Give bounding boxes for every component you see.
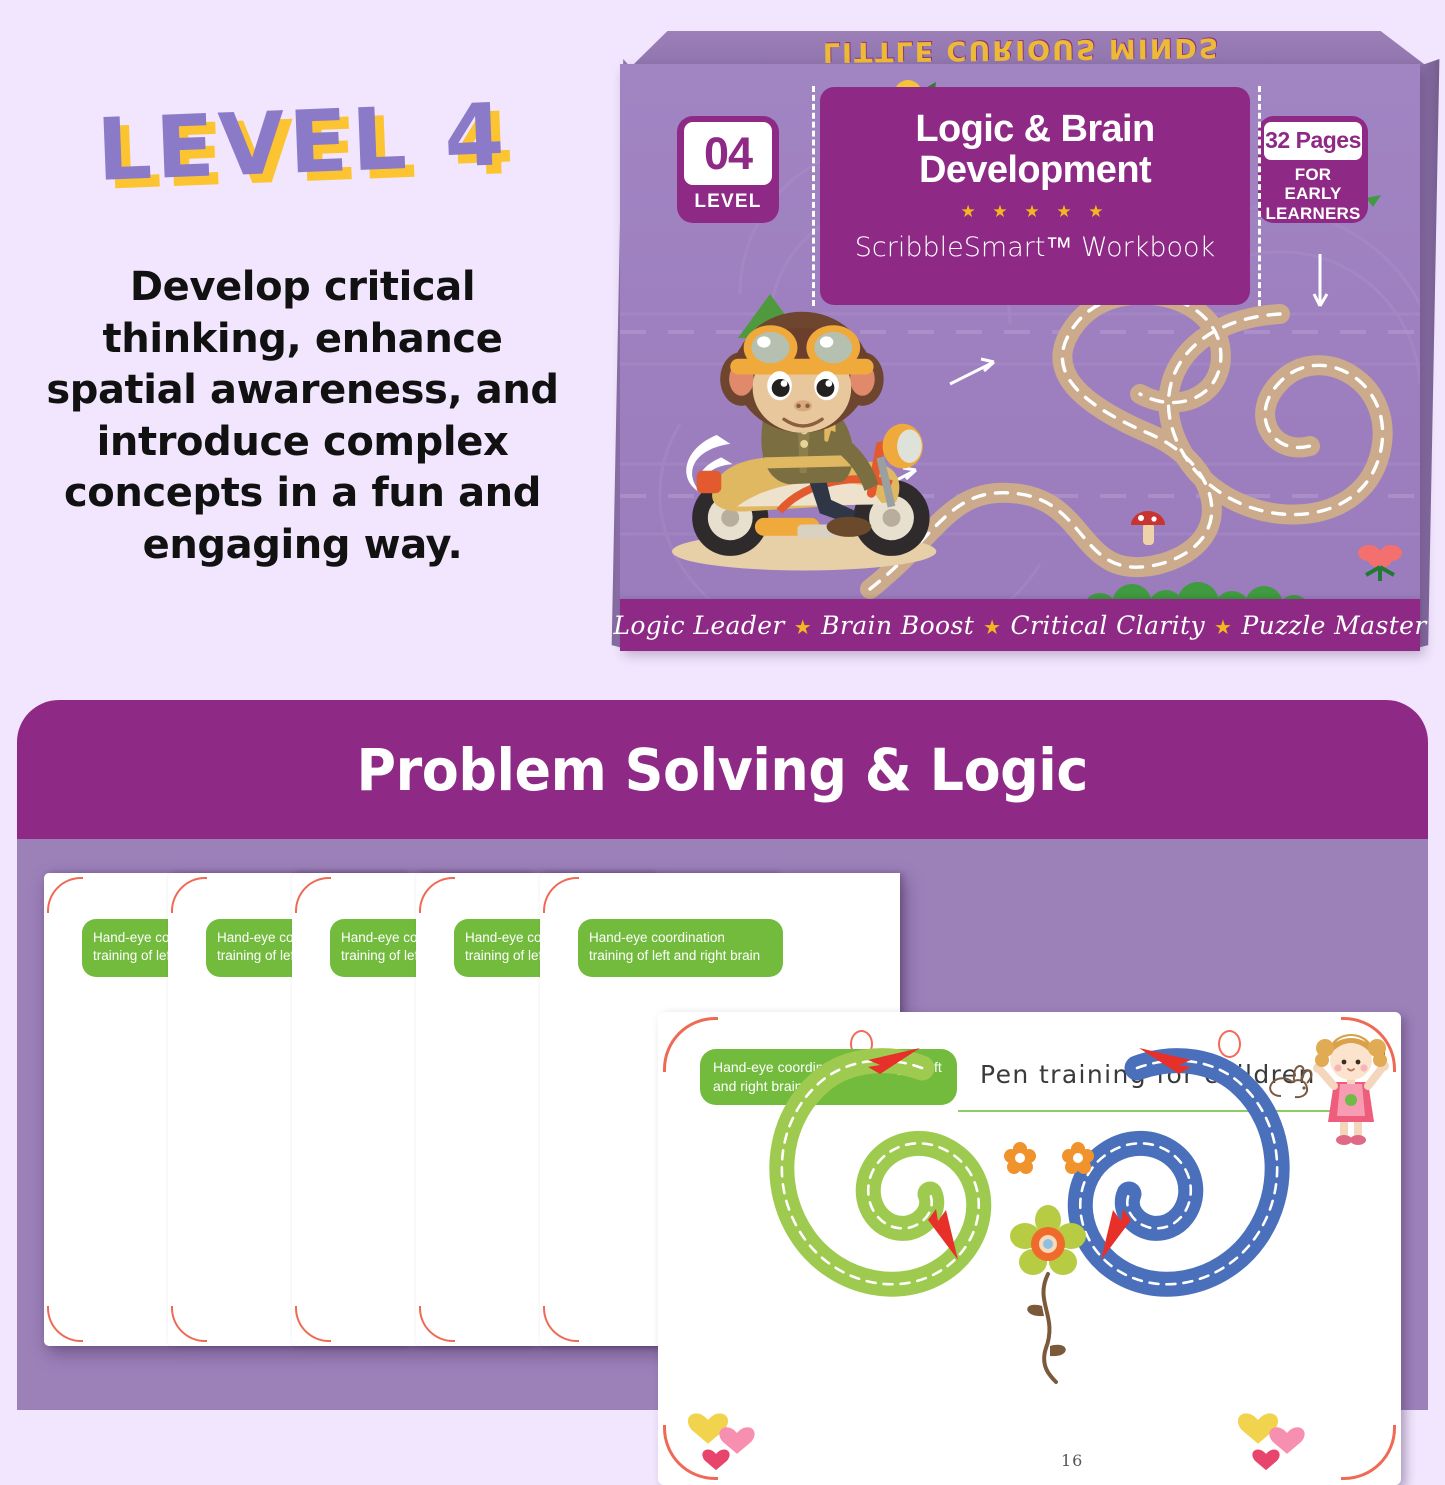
banner-separator-star: ★ — [785, 615, 821, 639]
mushroom-icon — [1131, 511, 1165, 545]
blue-spiral-trace — [1080, 1048, 1277, 1284]
level-badge-label: LEVEL — [694, 191, 761, 213]
monkey-on-scooter-icon — [672, 312, 936, 571]
pages-count-label: 32 Pages — [1264, 122, 1362, 160]
section-banner: Problem Solving & Logic — [17, 700, 1428, 839]
red-heart-icon — [702, 1450, 729, 1471]
box-subtitle: ScribbleSmart™ Workbook — [855, 232, 1215, 263]
pages-badge-line-2: EARLY — [1265, 184, 1360, 203]
box-title: Logic & Brain Development — [820, 109, 1250, 190]
title-plate: Logic & Brain Development ★ ★ ★ ★ ★ Scri… — [820, 87, 1250, 305]
banner-item: Puzzle Master — [1241, 611, 1426, 640]
green-spiral-trace — [782, 1061, 979, 1285]
banner-separator-star: ★ — [1205, 615, 1241, 639]
banner-item: Brain Boost — [821, 611, 974, 640]
box-bottom-banner: Logic Leader★Brain Boost★Critical Clarit… — [620, 599, 1420, 651]
corner-mark-bottom-left — [47, 1306, 83, 1342]
box-front-face: 04 LEVEL 32 Pages FOR EARLY LEARNERS Log… — [620, 64, 1420, 649]
corner-mark-top-left — [47, 877, 83, 913]
level-title: LEVEL 4 — [19, 89, 587, 197]
box-banner-items: Logic Leader★Brain Boost★Critical Clarit… — [613, 611, 1426, 640]
pages-badge-subtitle: FOR EARLY LEARNERS — [1265, 165, 1360, 223]
pages-badge-line-3: LEARNERS — [1265, 204, 1360, 223]
daisy-flower-icon — [1010, 1205, 1086, 1382]
section-banner-title: Problem Solving & Logic — [357, 736, 1088, 804]
pages-badge-line-1: FOR — [1265, 165, 1360, 184]
orange-flower-icon — [1004, 1142, 1036, 1174]
left-copy-block: LEVEL 4 Develop critical thinking, enhan… — [20, 100, 585, 572]
top-section: LEVEL 4 Develop critical thinking, enhan… — [0, 0, 1445, 690]
level-badge-number: 04 — [684, 122, 772, 185]
corner-mark-top-left — [171, 877, 207, 913]
corner-mark-bottom-left — [171, 1306, 207, 1342]
banner-item: Critical Clarity — [1011, 611, 1206, 640]
level-description: Develop critical thinking, enhance spati… — [20, 262, 585, 572]
pink-flower-icon — [1358, 545, 1402, 581]
worksheet-tray: Hand-eye coordination training of left a… — [17, 839, 1428, 1410]
banner-separator-star: ★ — [974, 615, 1010, 639]
rating-stars: ★ ★ ★ ★ ★ — [960, 202, 1109, 222]
tracing-activity-area — [658, 1012, 1401, 1485]
orange-flower-icon — [1062, 1142, 1094, 1174]
page-number: 16 — [1061, 1451, 1083, 1470]
main-worksheet-card[interactable]: Hand-eye coordination training of left a… — [658, 1012, 1401, 1485]
level-badge: 04 LEVEL — [677, 116, 779, 223]
lower-section: Problem Solving & Logic Hand-eye coordin… — [17, 700, 1428, 1410]
red-heart-icon — [1252, 1450, 1279, 1471]
pages-badge: 32 Pages FOR EARLY LEARNERS — [1258, 116, 1368, 223]
banner-item: Logic Leader — [613, 611, 784, 640]
product-box-mockup: LITTLE CURIOUS MINDS — [598, 31, 1445, 651]
